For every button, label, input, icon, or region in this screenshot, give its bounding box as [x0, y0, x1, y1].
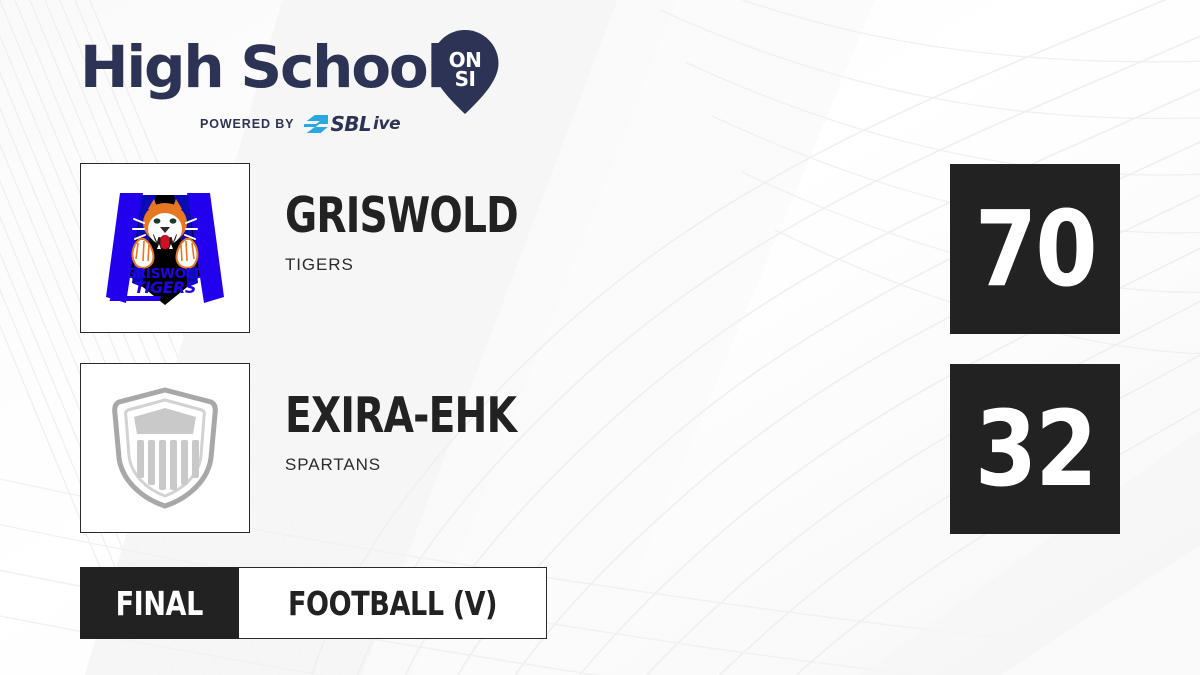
sblive-wordmark: SBL — [330, 114, 371, 134]
sblive-logo: SBL ive — [302, 114, 400, 134]
sblive-s-icon — [302, 114, 328, 134]
generic-shield-logo — [107, 384, 223, 512]
team-mascot: SPARTANS — [285, 455, 574, 475]
team-score: 70 — [974, 197, 1095, 301]
team-row: EXIRA-EHK SPARTANS 32 — [0, 363, 1200, 535]
sport-label-box: FOOTBALL (V) — [239, 567, 547, 639]
brand-header: High School ON SI POWERED BY SBL ive — [80, 32, 510, 137]
on-si-pin-icon: ON SI — [428, 28, 502, 116]
team-score-box: 70 — [950, 164, 1120, 334]
svg-text:TIGERS: TIGERS — [134, 278, 196, 297]
team-mascot: TIGERS — [285, 255, 576, 275]
page-title: High School — [80, 32, 444, 102]
griswold-tigers-logo: GRISWOLD TIGERS — [96, 179, 234, 317]
team-score: 32 — [974, 397, 1095, 501]
team-score-box: 32 — [950, 364, 1120, 534]
team-info: EXIRA-EHK SPARTANS — [285, 389, 574, 475]
status-badge: FINAL — [80, 567, 239, 639]
powered-by-row: POWERED BY SBL ive — [200, 114, 400, 134]
team-name: EXIRA-EHK — [285, 389, 516, 443]
team-logo-box — [80, 363, 250, 533]
sblive-wordmark-suffix: ive — [373, 116, 400, 133]
powered-by-label: POWERED BY — [200, 117, 294, 131]
team-row: GRISWOLD TIGERS GRISWOLD TIGERS 70 — [0, 163, 1200, 335]
sport-label: FOOTBALL (V) — [287, 587, 496, 620]
game-status-bar: FINAL FOOTBALL (V) — [80, 567, 547, 639]
team-name: GRISWOLD — [285, 189, 518, 243]
team-logo-box: GRISWOLD TIGERS — [80, 163, 250, 333]
svg-text:SI: SI — [455, 67, 476, 91]
team-info: GRISWOLD TIGERS — [285, 189, 576, 275]
status-badge-label: FINAL — [116, 587, 203, 620]
